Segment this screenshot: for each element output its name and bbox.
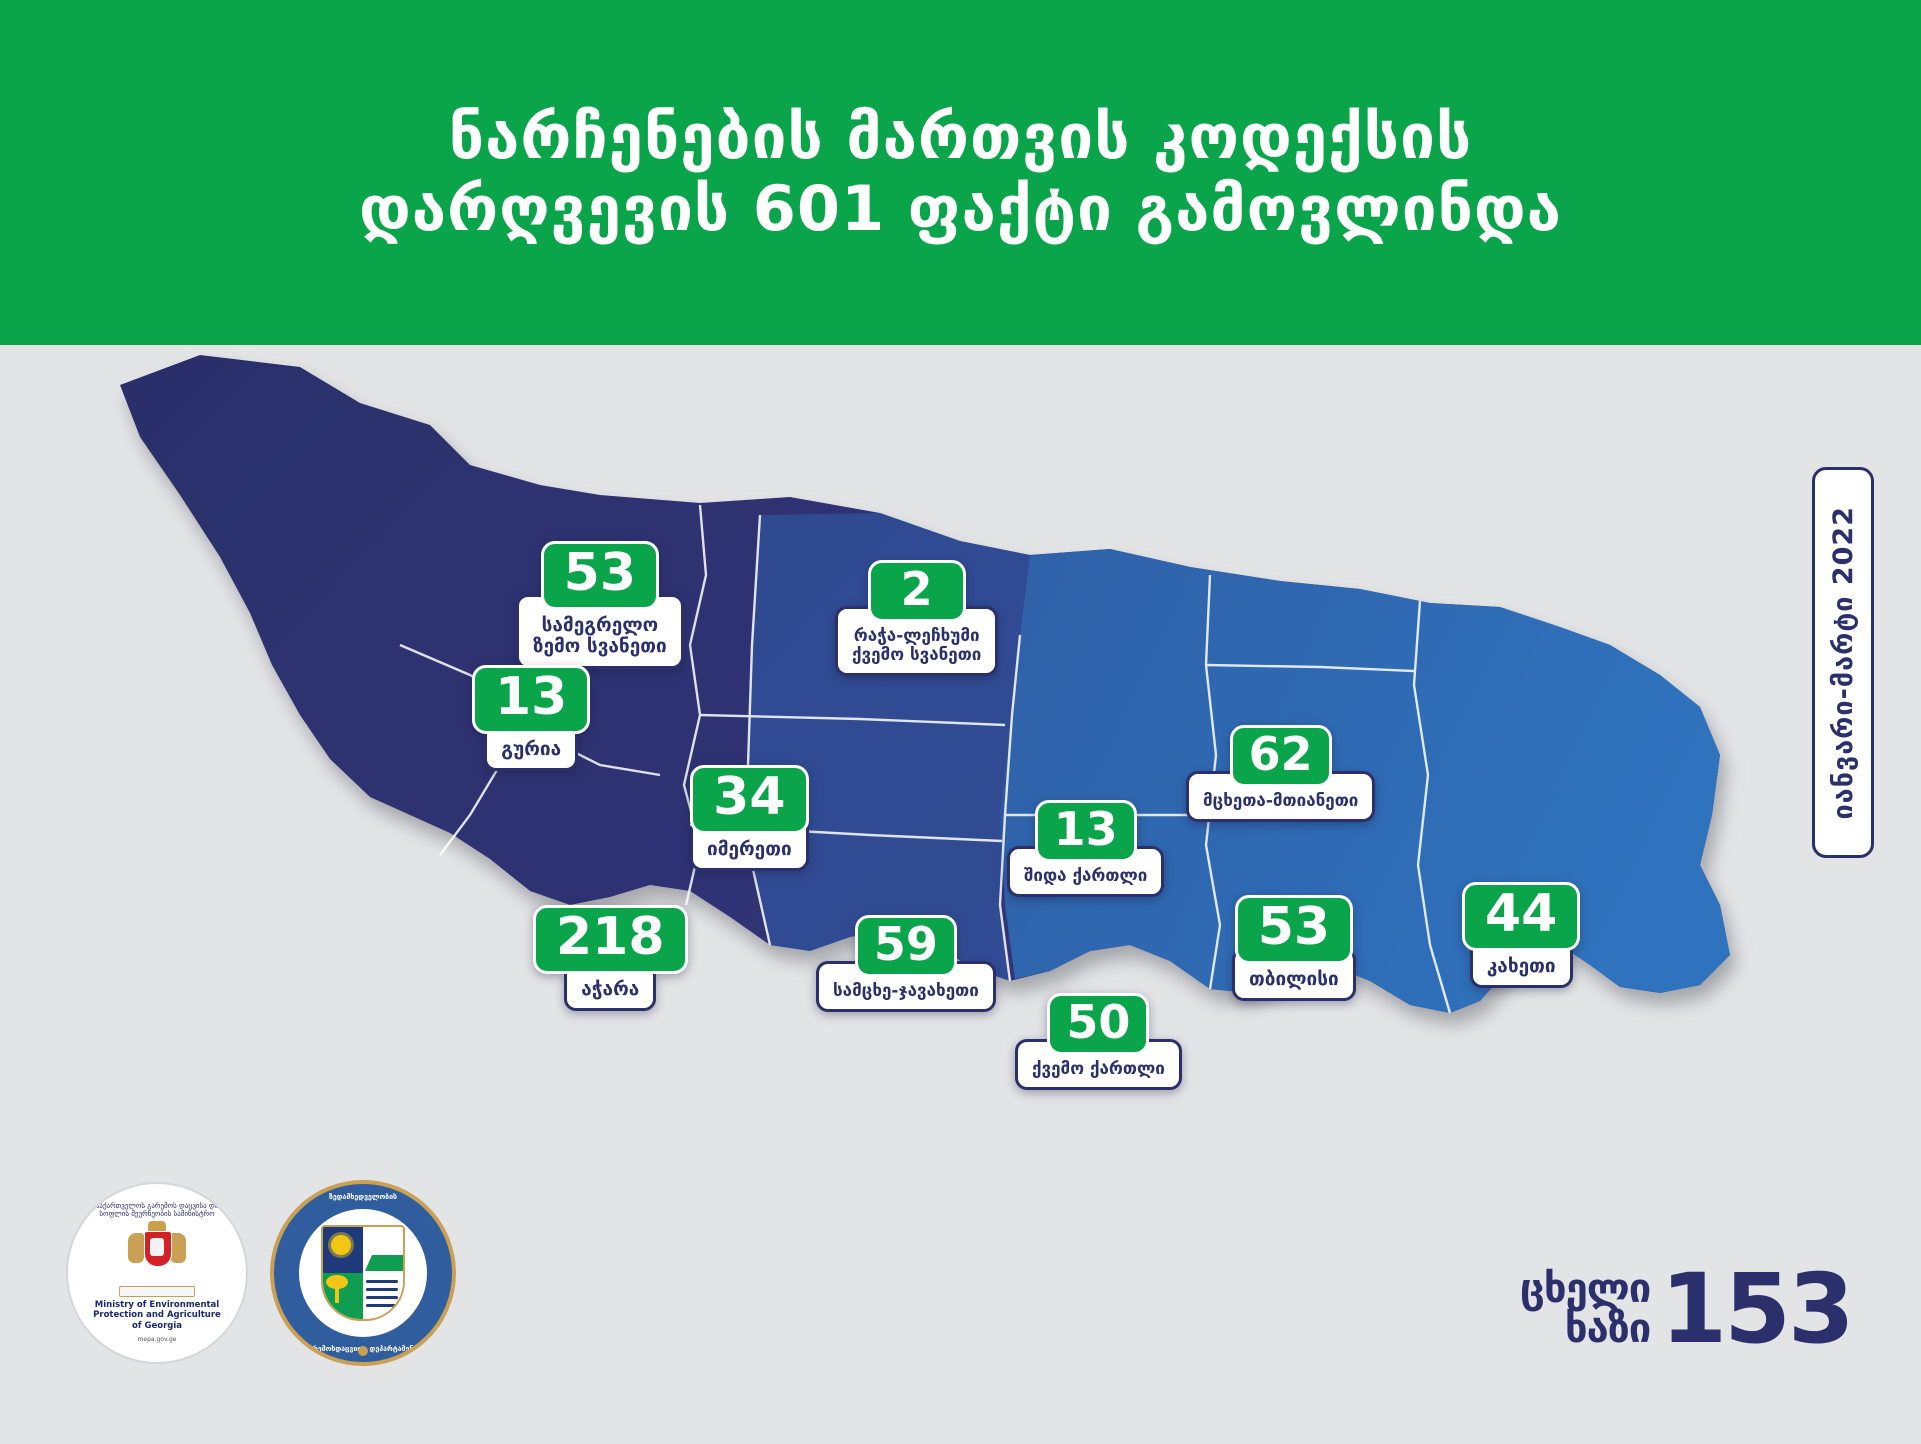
marker-shida-kartli[interactable]: 13 შიდა ქართლი <box>1007 800 1164 897</box>
marker-tbilisi[interactable]: 53 თბილისი <box>1232 895 1356 1001</box>
supervision-department-logo: ზედამხედველობის გარემოსდაცვითი დეპარტამე… <box>270 1180 456 1366</box>
seal-dot-icon <box>358 1346 368 1356</box>
marker-value: 2 <box>868 560 966 622</box>
marker-guria[interactable]: 13 გურია <box>472 665 590 771</box>
header-banner: ნარჩენების მართვის კოდექსის დარღვევის 60… <box>0 0 1921 345</box>
hotline-label: ცხელი ხაზი <box>1520 1269 1650 1349</box>
logo-group: საქართველოს გარემოს დაცვისა და სოფლის მე… <box>66 1180 456 1366</box>
marker-value: 218 <box>533 905 688 974</box>
marker-value: 62 <box>1230 725 1332 787</box>
marker-kvemo-kartli[interactable]: 50 ქვემო ქართლი <box>1015 993 1182 1090</box>
marker-value: 44 <box>1462 882 1580 951</box>
date-range-badge: იანვარი-მარტი 2022 <box>1812 467 1874 858</box>
marker-samegrelo-zemo-svaneti[interactable]: 53 სამეგრელო ზემო სვანეთი <box>516 541 684 669</box>
marker-value: 13 <box>472 665 590 734</box>
water-waves-icon <box>366 1280 398 1283</box>
mountain-icon <box>365 1255 405 1271</box>
marker-value: 13 <box>1035 800 1137 862</box>
date-range-text: იანვარი-მარტი 2022 <box>1828 506 1859 820</box>
department-shield-icon <box>321 1225 405 1321</box>
marker-value: 53 <box>541 541 659 610</box>
page-title-line2: დარღვევის 601 ფაქტი გამოვლინდა <box>359 173 1562 244</box>
supervision-ring-top: ზედამხედველობის <box>274 1193 452 1201</box>
ministry-ring-text: საქართველოს გარემოს დაცვისა და სოფლის მე… <box>82 1203 232 1218</box>
marker-kakheti[interactable]: 44 კახეთი <box>1462 882 1580 988</box>
ministry-url: mepa.gov.ge <box>138 1336 177 1343</box>
marker-mtskheta-mtianeti[interactable]: 62 მცხეთა-მთიანეთი <box>1186 725 1375 822</box>
marker-racha-lechkhumi-kvemo-svaneti[interactable]: 2 რაჭა-ლეჩხუმი ქვემო სვანეთი <box>835 560 998 676</box>
marker-imereti[interactable]: 34 იმერეთი <box>690 765 809 871</box>
ministry-logo: საქართველოს გარემოს დაცვისა და სოფლის მე… <box>66 1182 248 1364</box>
marker-adjara[interactable]: 218 აჭარა <box>533 905 688 1011</box>
marker-samtskhe-javakheti[interactable]: 59 სამცხე-ჯავახეთი <box>816 915 996 1012</box>
tree-icon <box>335 1281 339 1303</box>
marker-value: 50 <box>1047 993 1149 1055</box>
marker-value: 59 <box>855 915 957 977</box>
marker-value: 53 <box>1235 895 1353 964</box>
hotline-block[interactable]: ცხელი ხაზი 153 <box>1520 1265 1852 1353</box>
marker-value: 34 <box>690 765 808 834</box>
sun-icon <box>331 1235 351 1255</box>
georgia-coat-of-arms-icon <box>126 1221 188 1285</box>
ministry-english-name: Ministry of Environmental Protection and… <box>92 1300 222 1332</box>
hotline-number: 153 <box>1660 1265 1851 1353</box>
motto-banner-icon <box>119 1286 195 1297</box>
page-title-line1: ნარჩენების მართვის კოდექსის <box>449 101 1472 172</box>
